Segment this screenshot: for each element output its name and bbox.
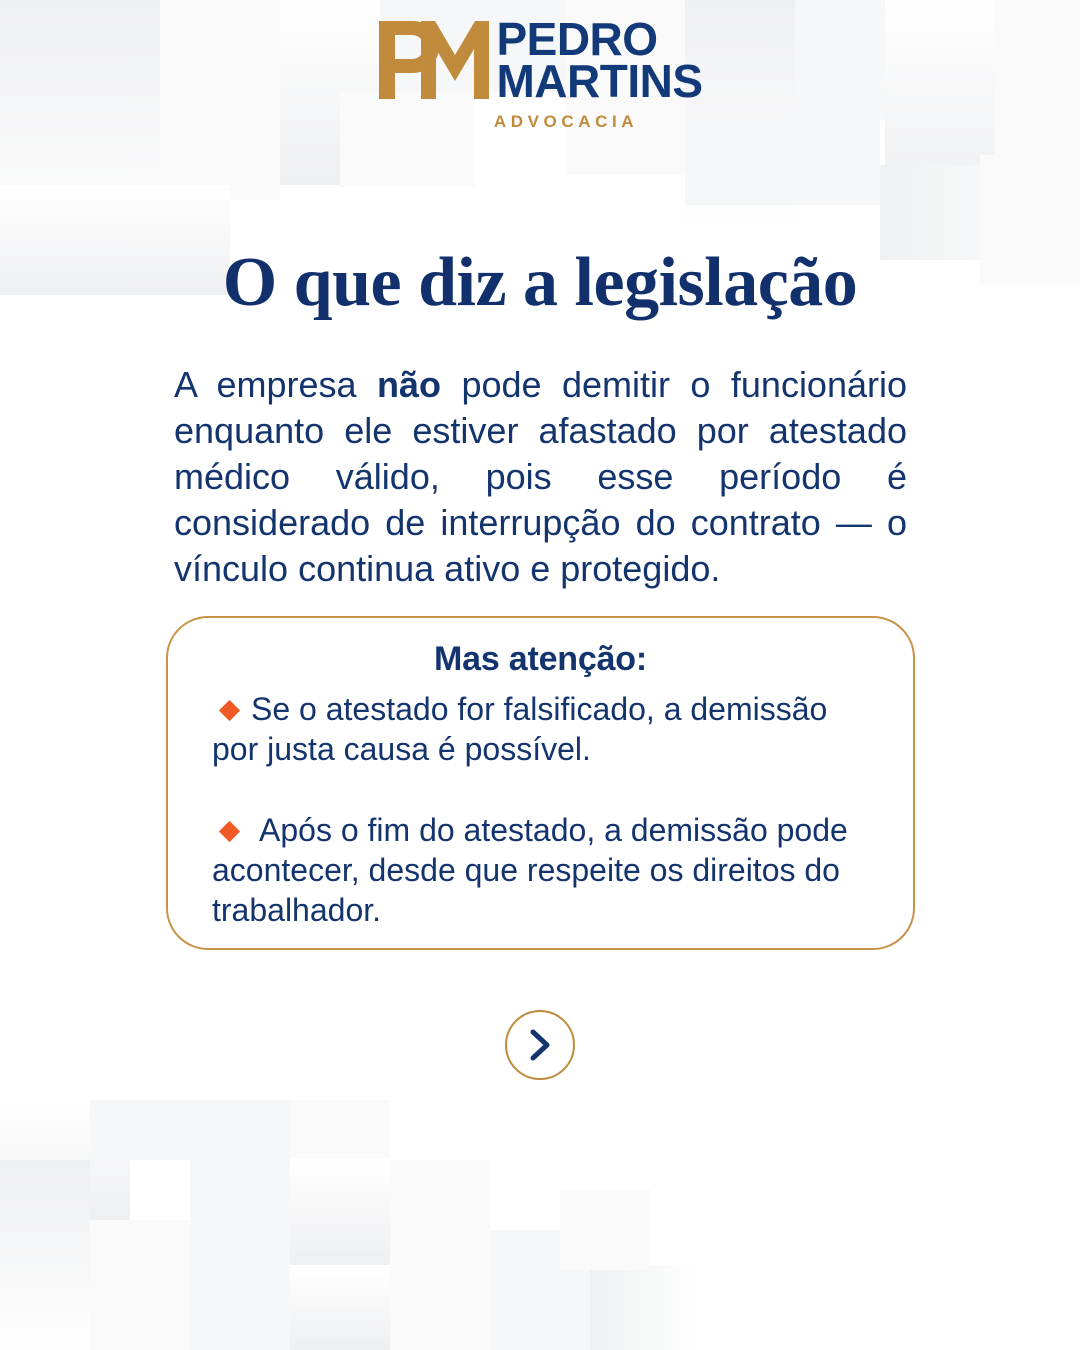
bg-block <box>90 1100 290 1160</box>
logo-tagline: ADVOCACIA <box>442 112 638 132</box>
bg-block <box>590 1265 700 1350</box>
bg-block <box>390 1160 490 1265</box>
pm-monogram-icon <box>377 19 492 101</box>
chevron-right-icon <box>527 1028 553 1062</box>
bg-block <box>290 1160 390 1265</box>
attention-box: Mas atenção: Se o atestado for falsifica… <box>166 616 915 950</box>
bg-block <box>190 1265 290 1350</box>
logo-wordmark: PEDRO MARTINS <box>496 18 702 103</box>
bg-block <box>0 1100 130 1220</box>
bg-block <box>560 1190 650 1270</box>
logo-name-line1: PEDRO <box>496 18 702 60</box>
attention-item-text: Se o atestado for falsificado, a demissã… <box>212 691 827 767</box>
page-title: O que diz a legislação <box>0 243 1080 323</box>
bg-block <box>290 1265 390 1350</box>
bg-block <box>90 1220 190 1350</box>
brand-logo: PEDRO MARTINS ADVOCACIA <box>0 18 1080 132</box>
attention-title: Mas atenção: <box>168 640 913 679</box>
diamond-bullet-icon <box>219 821 240 842</box>
next-slide-button[interactable] <box>505 1010 575 1080</box>
attention-item: Se o atestado for falsificado, a demissã… <box>212 689 869 770</box>
attention-item: Após o fim do atestado, a demissão pode … <box>212 810 869 931</box>
bg-block <box>390 1265 590 1350</box>
bg-block <box>0 1160 90 1350</box>
logo-name-line2: MARTINS <box>496 60 702 102</box>
post-canvas: PEDRO MARTINS ADVOCACIA O que diz a legi… <box>0 0 1080 1350</box>
bg-block <box>685 120 880 205</box>
body-paragraph: A empresa não pode demitir o funcionário… <box>174 362 907 592</box>
attention-item-text: Após o fim do atestado, a demissão pode … <box>212 812 848 929</box>
bg-block <box>490 1230 590 1350</box>
bg-block <box>190 1160 290 1265</box>
bg-block <box>290 1100 390 1158</box>
logo-row: PEDRO MARTINS <box>377 18 702 103</box>
body-part1: A empresa <box>174 364 377 405</box>
diamond-bullet-icon <box>219 700 240 721</box>
body-emphasis: não <box>377 364 441 405</box>
